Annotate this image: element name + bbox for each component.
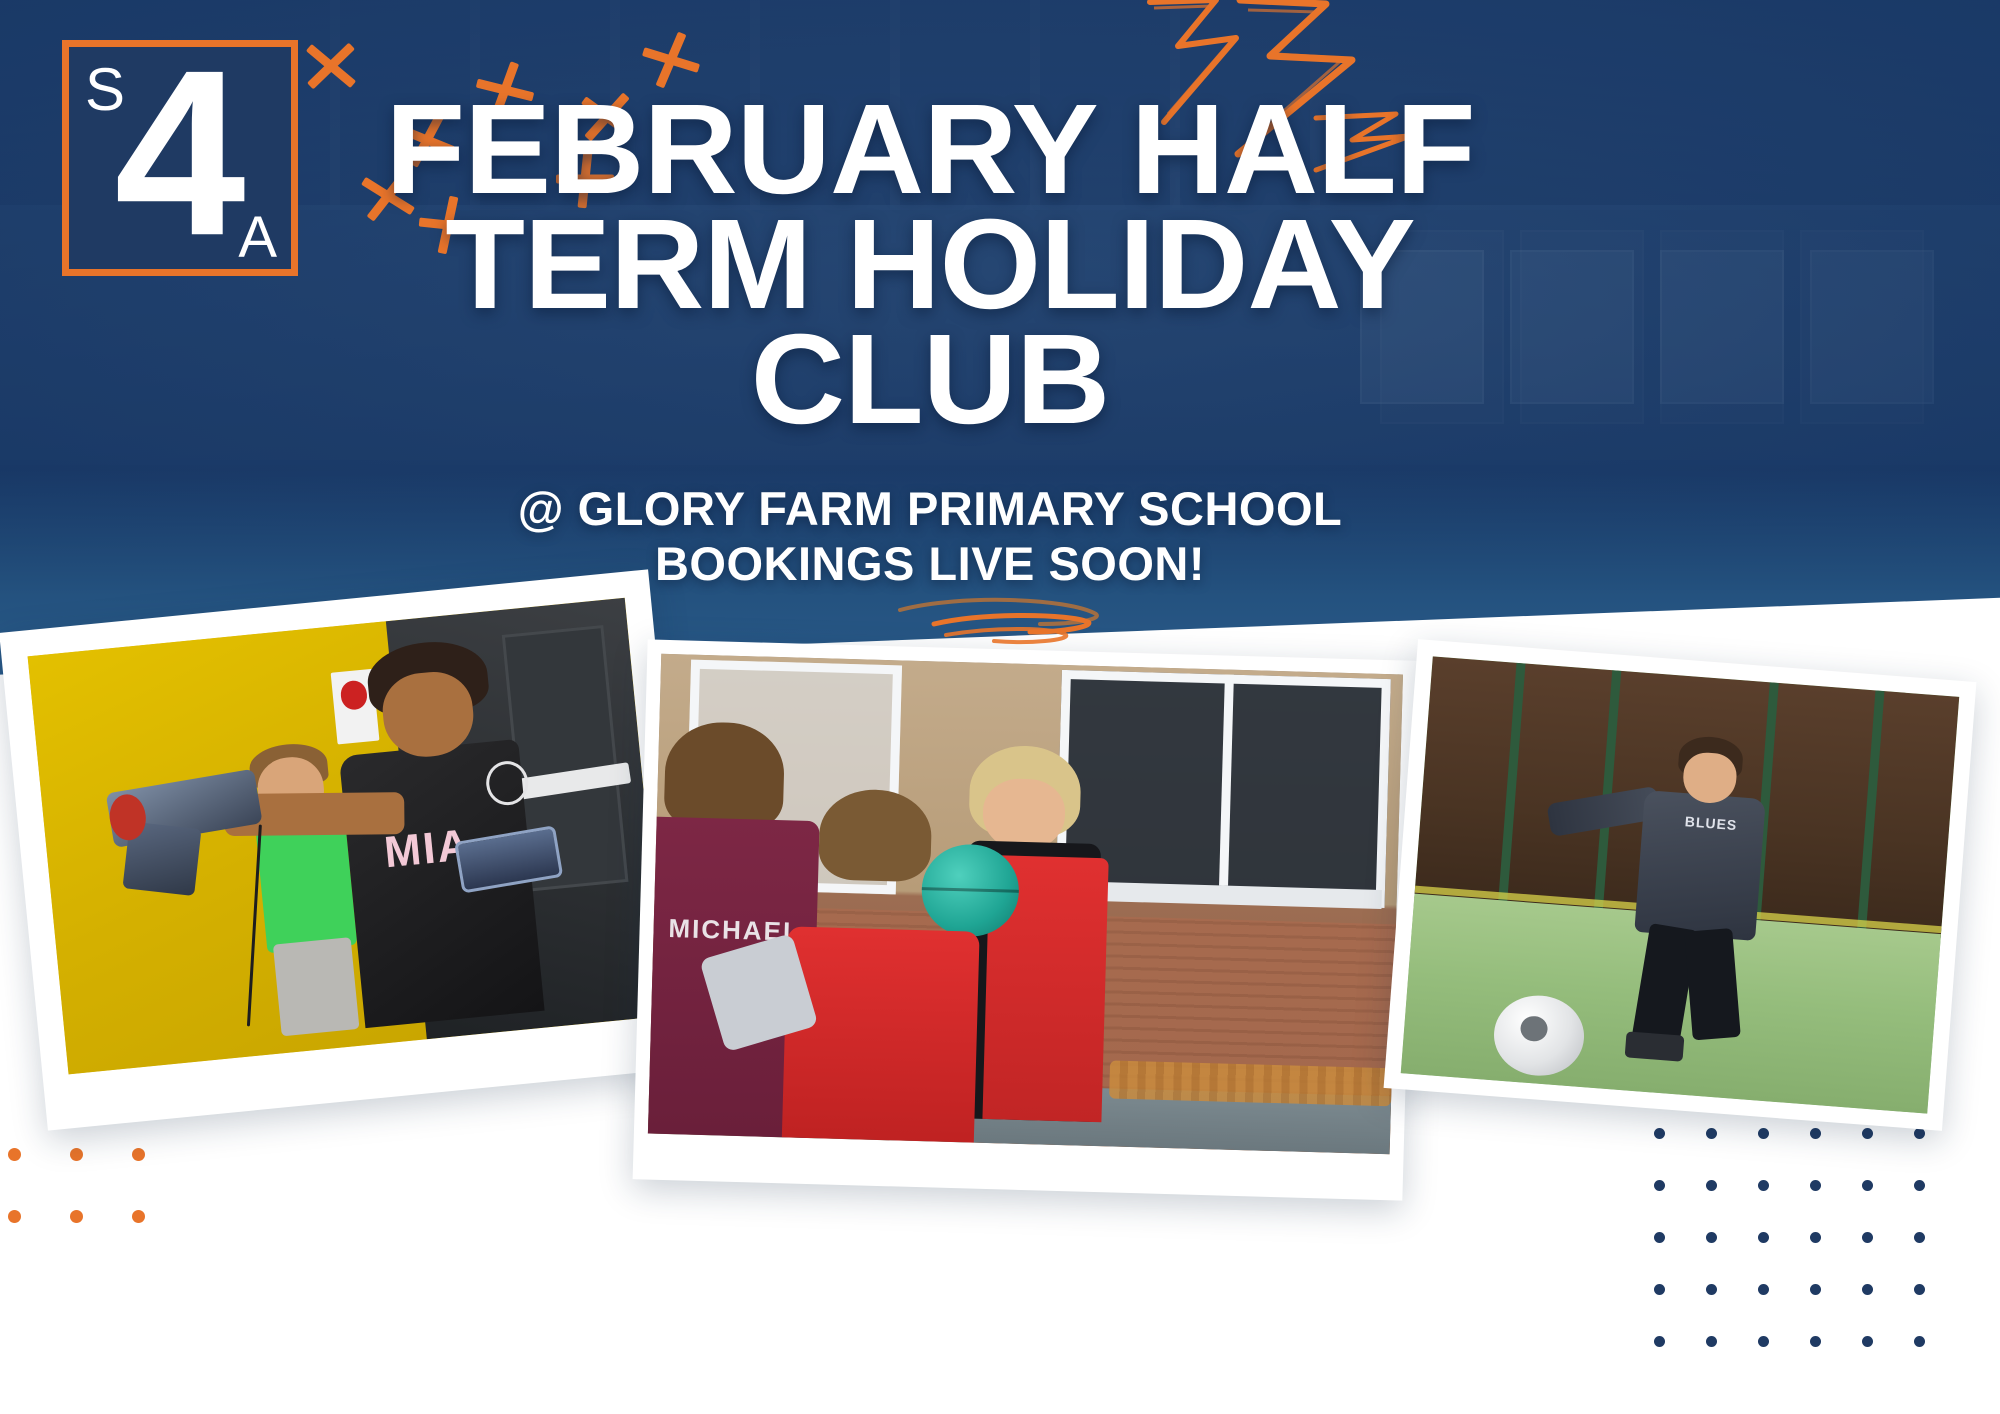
laser-tag-photo: MIA	[0, 569, 697, 1130]
netball-photo: MICHAEL	[633, 639, 1418, 1200]
subheadline-booking: BOOKINGS LIVE SOON!	[300, 537, 1560, 592]
poster: S 4 A FEBRUARY HALF TERM HOLIDAY C	[0, 0, 2000, 1414]
headline-line-2: TERM HOLIDAY	[287, 207, 1572, 322]
subheadline-venue: @ GLORY FARM PRIMARY SCHOOL	[300, 482, 1560, 537]
s4a-logo: S 4 A	[62, 40, 298, 276]
headline: FEBRUARY HALF TERM HOLIDAY CLUB	[287, 92, 1572, 438]
logo-letter-a: A	[238, 204, 277, 269]
headline-line-3: CLUB	[287, 322, 1572, 437]
subheadline: @ GLORY FARM PRIMARY SCHOOL BOOKINGS LIV…	[300, 482, 1560, 591]
headline-line-1: FEBRUARY HALF	[287, 92, 1572, 207]
underline-swoosh-icon	[890, 588, 1120, 658]
navy-dot-grid	[1654, 1128, 1966, 1388]
football-image: BLUES	[1401, 656, 1960, 1113]
football-photo: BLUES	[1384, 639, 1977, 1131]
netball-image: MICHAEL	[648, 654, 1403, 1155]
logo-numeral-4: 4	[114, 47, 245, 269]
laser-tag-image: MIA	[28, 598, 666, 1075]
